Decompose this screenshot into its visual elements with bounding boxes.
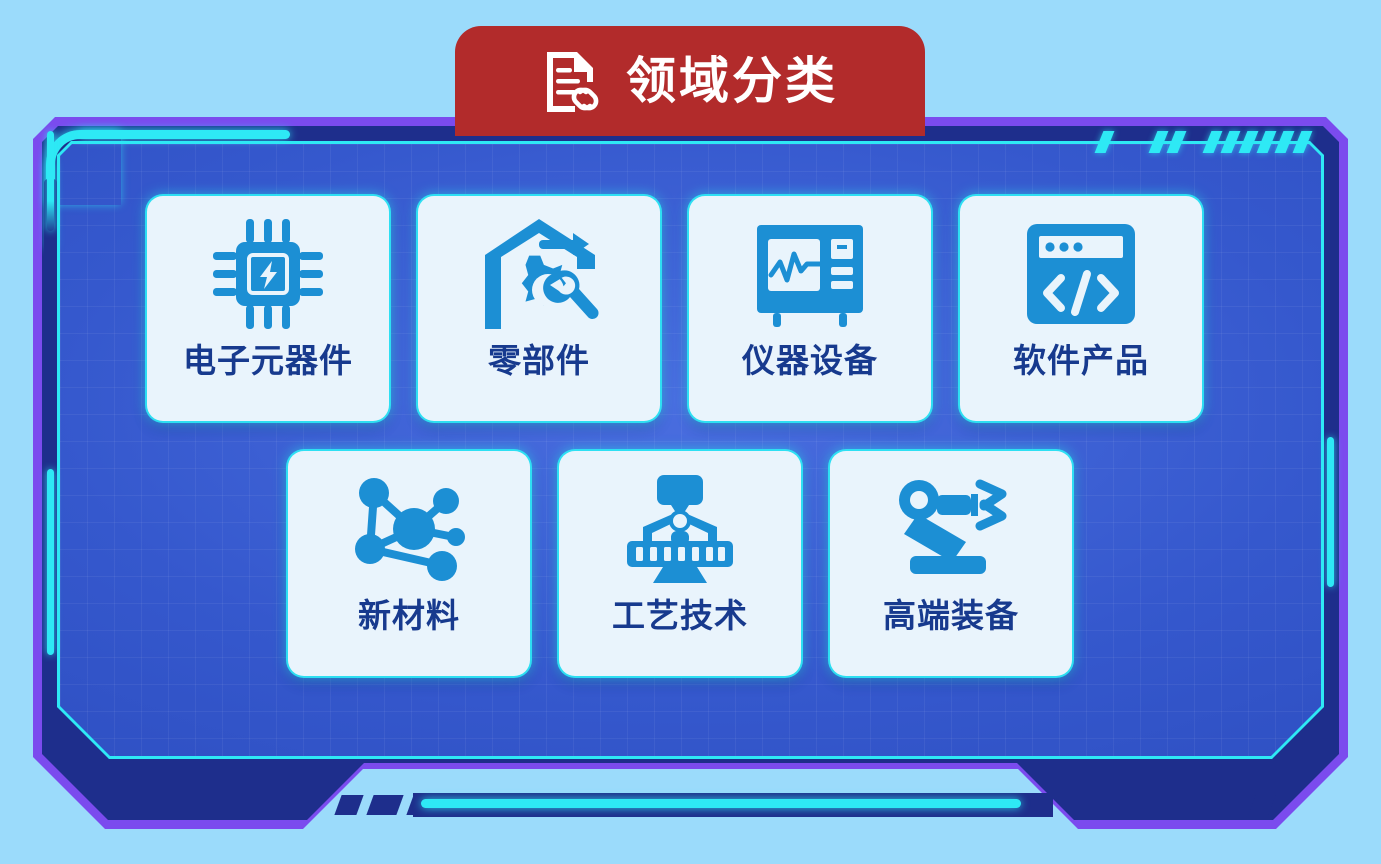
- category-card-process-technology[interactable]: 工艺技术: [559, 451, 801, 676]
- category-card-label: 仪器设备: [742, 344, 878, 377]
- category-card-label: 软件产品: [1013, 344, 1149, 377]
- bottom-neon-bar: [413, 793, 1053, 817]
- robot-arm-icon: [888, 459, 1014, 599]
- molecule-network-icon: [346, 459, 472, 599]
- slash-mark: [406, 795, 465, 815]
- bottom-neon-line: [421, 799, 1021, 808]
- category-card-label: 电子元器件: [183, 344, 353, 377]
- document-link-icon: [542, 48, 604, 116]
- category-card-label: 高端装备: [883, 599, 1019, 632]
- category-row-2: 新材料: [288, 451, 1072, 676]
- category-card-instruments[interactable]: 仪器设备: [689, 196, 931, 421]
- category-card-high-end-equipment[interactable]: 高端装备: [830, 451, 1072, 676]
- edge-neon-segment-left-lower: [44, 447, 57, 677]
- slash-marks-bottom-left: [338, 795, 462, 815]
- page-title: 领域分类: [626, 56, 838, 106]
- factory-gear-wrench-icon: [476, 204, 602, 344]
- category-card-software[interactable]: 软件产品: [960, 196, 1202, 421]
- process-machine-icon: [615, 459, 745, 599]
- slash-mark: [366, 795, 403, 815]
- oscilloscope-icon: [749, 204, 871, 344]
- category-card-electronic-components[interactable]: 电子元器件: [147, 196, 389, 421]
- category-card-label: 零部件: [488, 344, 590, 377]
- category-card-parts[interactable]: 零部件: [418, 196, 660, 421]
- header-banner: 领域分类: [455, 26, 925, 136]
- slash-mark: [334, 795, 363, 815]
- category-card-new-materials[interactable]: 新材料: [288, 451, 530, 676]
- microchip-icon: [205, 204, 331, 344]
- category-row-1: 电子元器件 零部件: [147, 196, 1202, 421]
- category-card-label: 工艺技术: [612, 599, 748, 632]
- code-window-icon: [1021, 204, 1141, 344]
- edge-neon-segment-left-upper: [44, 179, 57, 301]
- category-card-label: 新材料: [358, 599, 460, 632]
- edge-neon-segment-right: [1324, 417, 1337, 607]
